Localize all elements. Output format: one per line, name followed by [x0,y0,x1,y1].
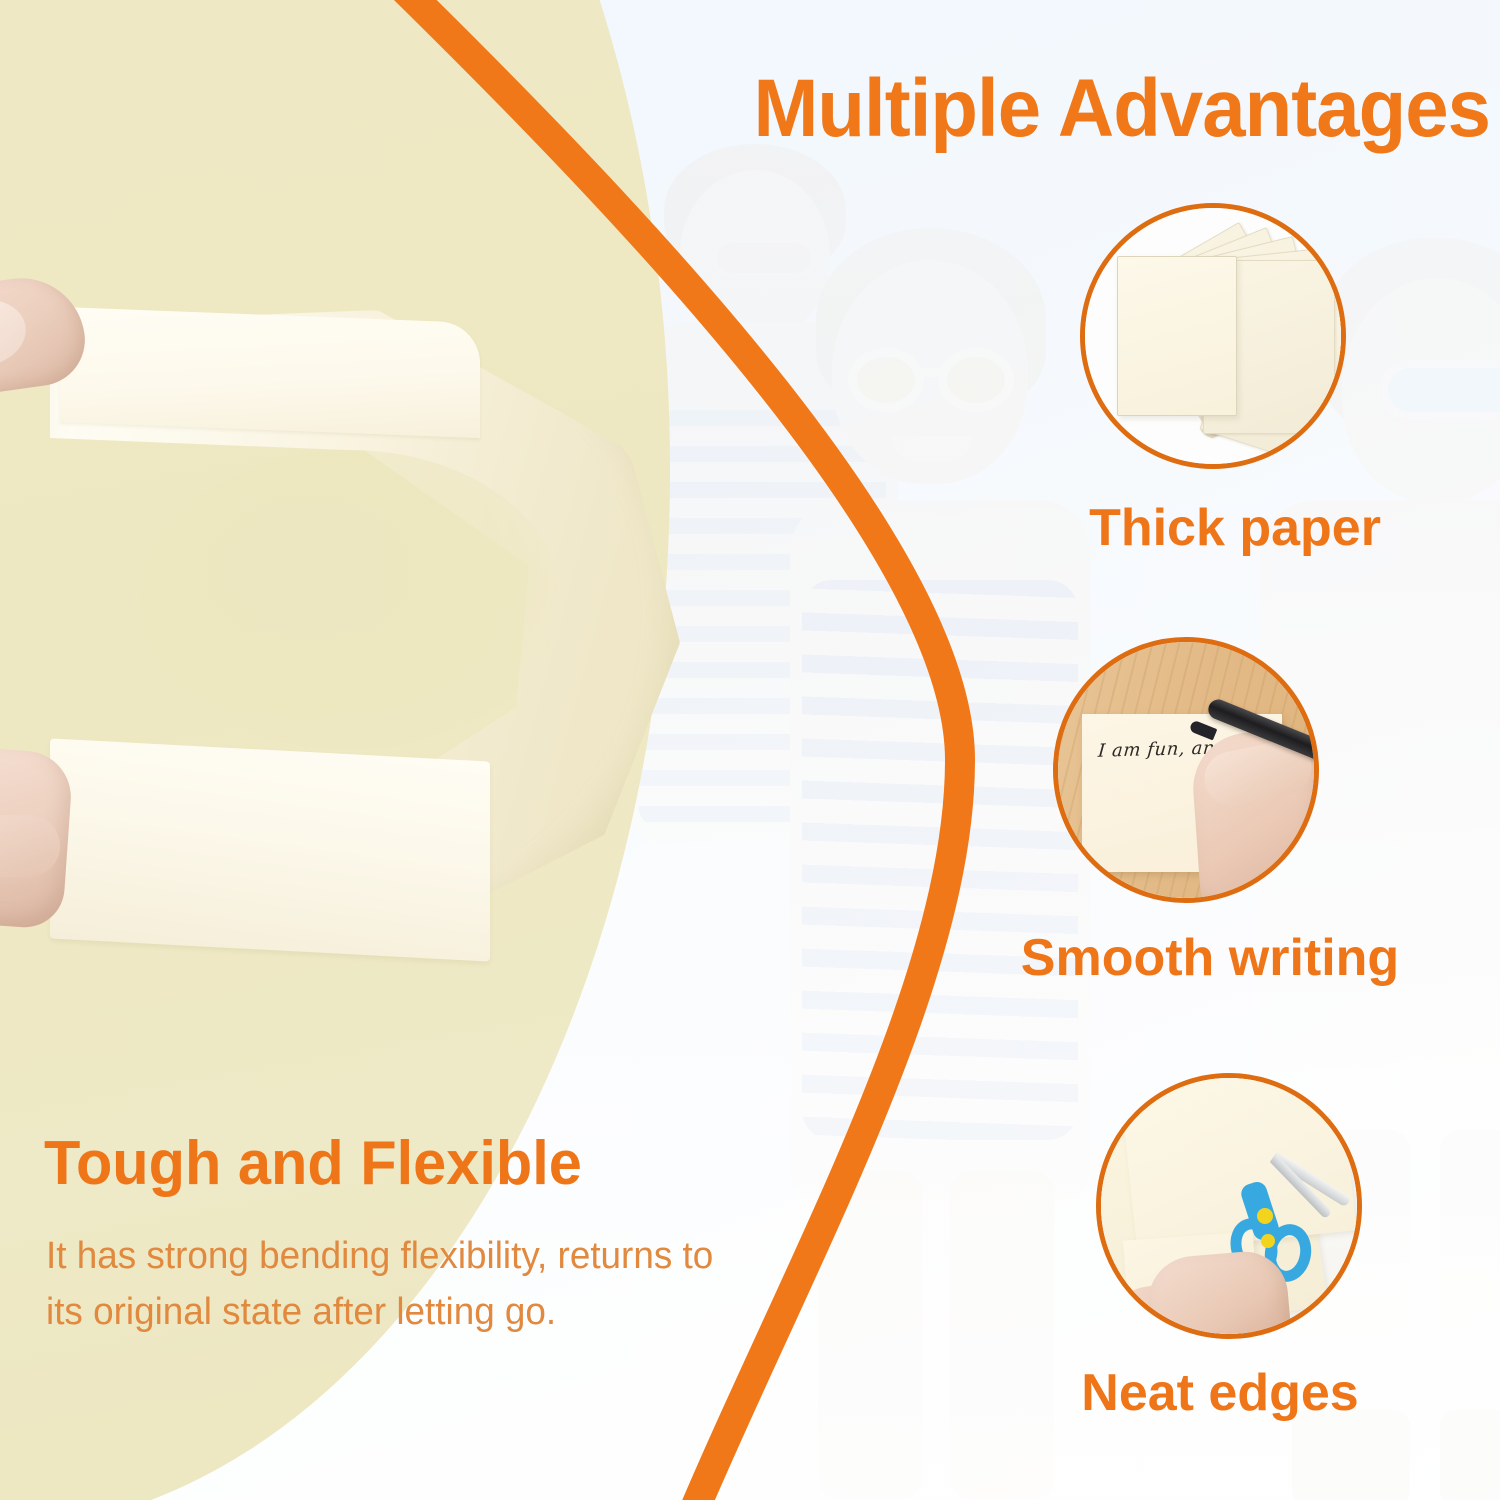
cutting-cardstock-with-scissors-photo [1096,1073,1362,1339]
feature-label-thick-paper: Thick paper [955,498,1500,558]
hand-writing-on-cardstock-photo: I am fun, and [1053,637,1319,903]
feature-thick-paper [1080,203,1346,469]
feature-label-neat-edges: Neat edges [940,1363,1500,1423]
infographic-page: Multiple Advantages Thick paper I am fun… [0,0,1500,1500]
left-feature-heading: Tough and Flexible [44,1128,582,1199]
feature-neat-edges [1096,1073,1362,1339]
left-feature-body: It has strong bending flexibility, retur… [46,1228,754,1340]
feature-label-smooth-writing: Smooth writing [930,928,1490,988]
stacked-cardstock-sheets-photo [1080,203,1346,469]
page-title: Multiple Advantages [664,62,1491,156]
feature-smooth-writing: I am fun, and [1053,637,1319,903]
